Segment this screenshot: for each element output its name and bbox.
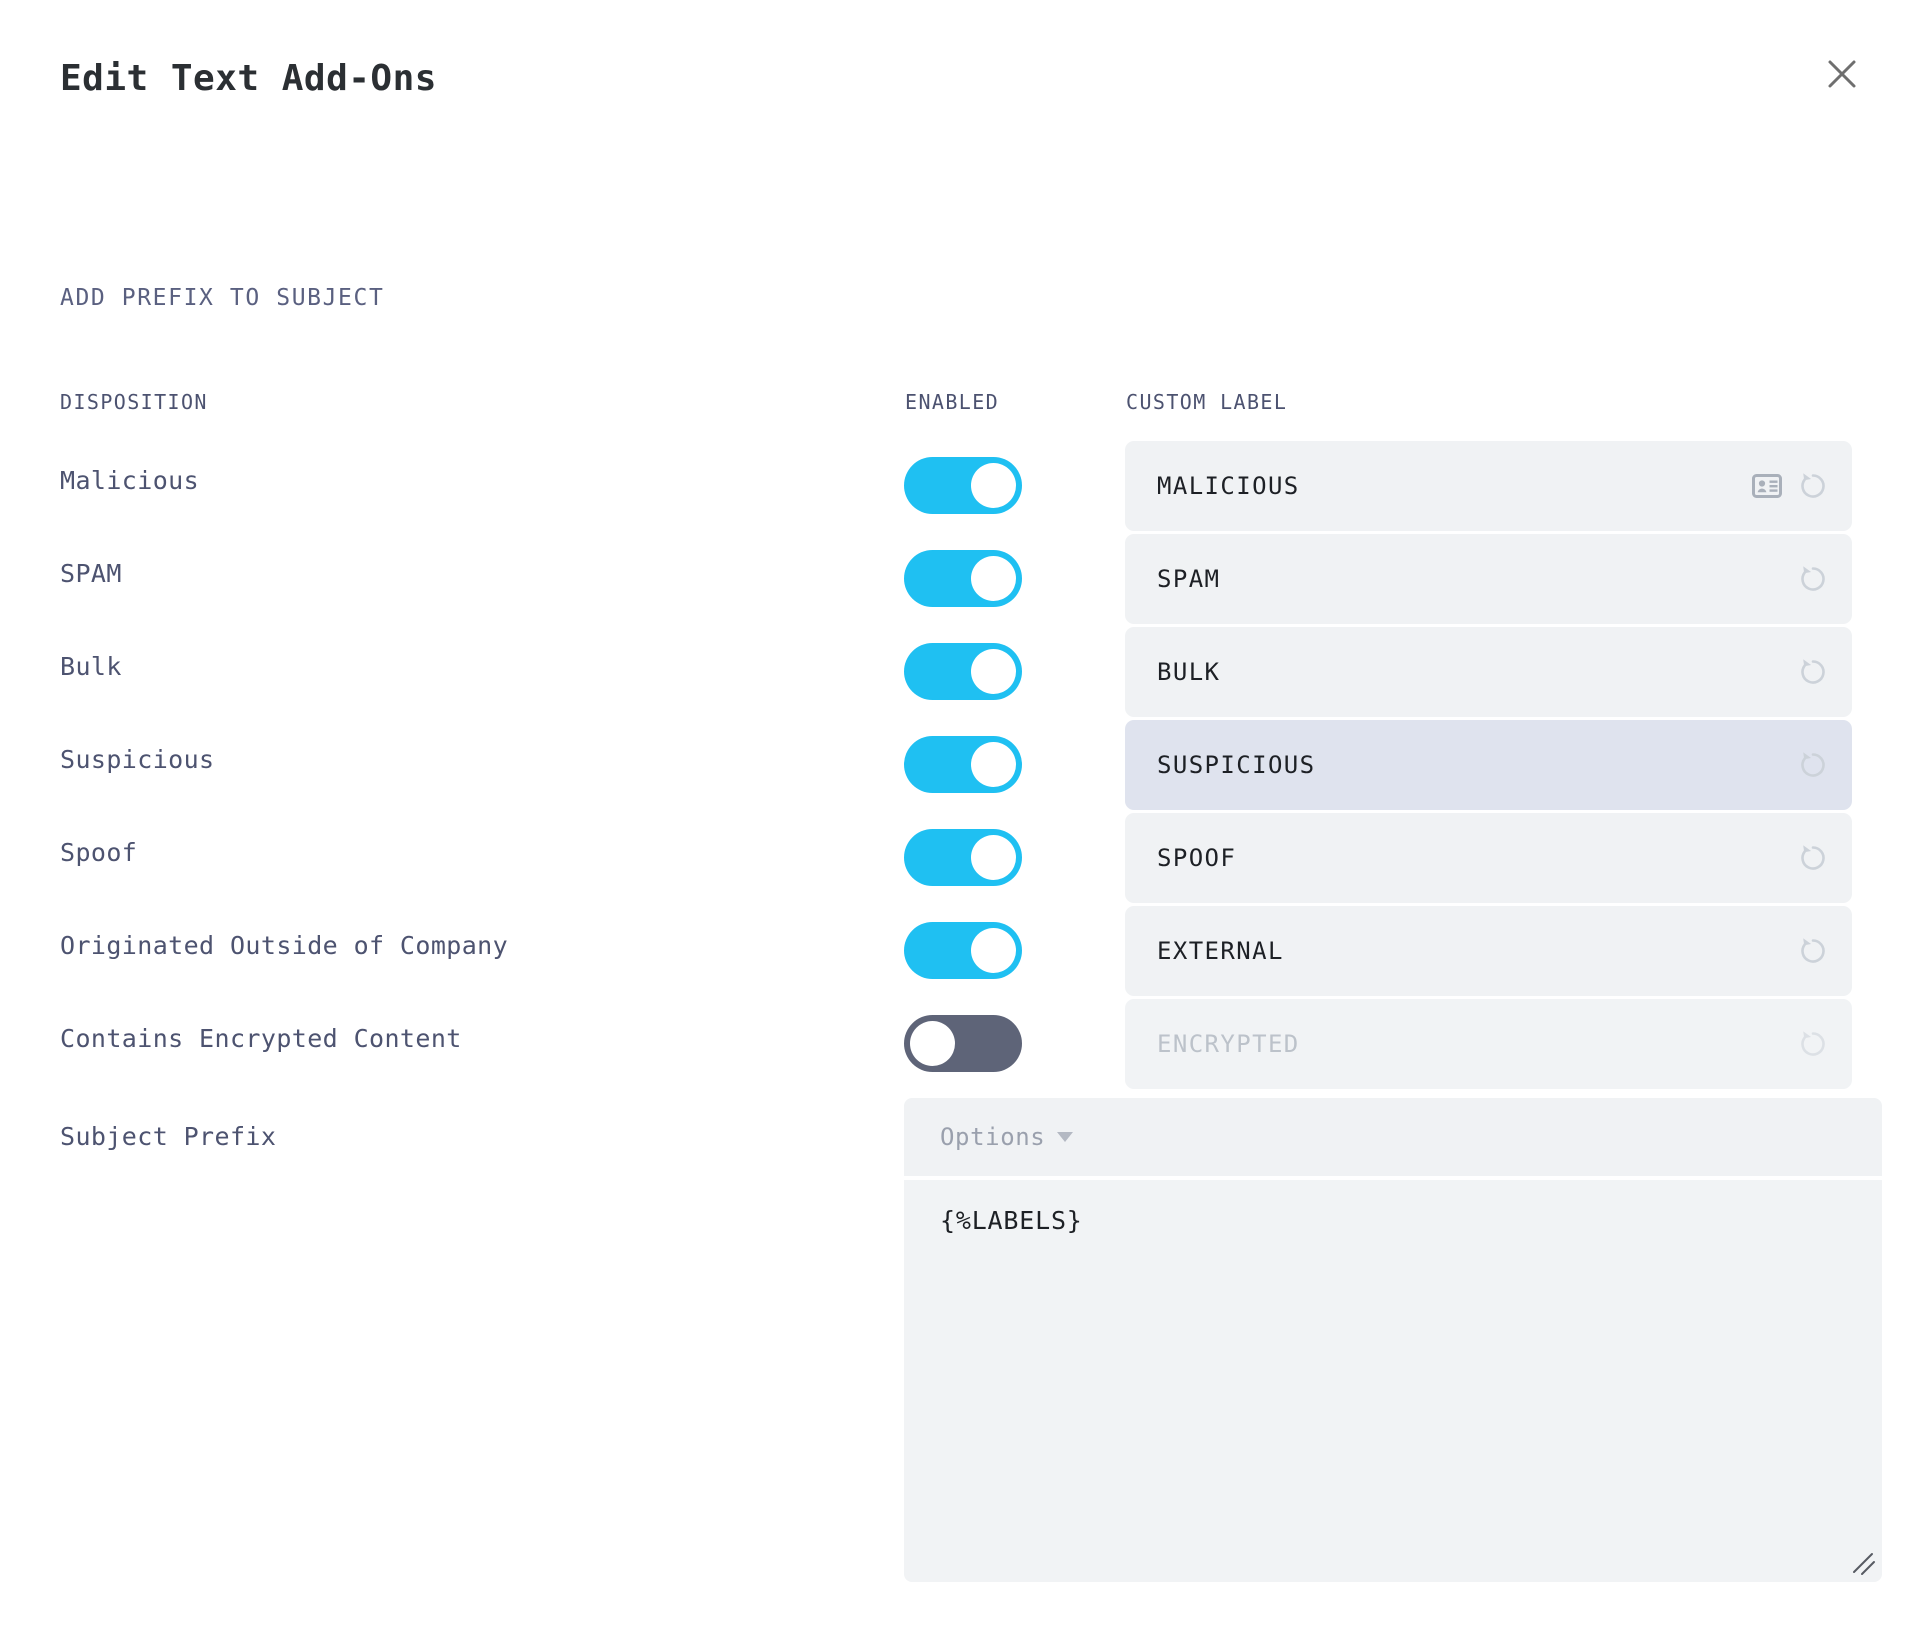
- column-header-custom-label: CUSTOM LABEL: [1126, 390, 1287, 414]
- custom-label-input[interactable]: SPOOF: [1125, 813, 1852, 903]
- enabled-toggle[interactable]: [904, 736, 1022, 793]
- disposition-label: Originated Outside of Company: [60, 931, 508, 960]
- toggle-knob: [971, 742, 1016, 787]
- reset-icon[interactable]: [1796, 841, 1830, 875]
- disposition-label: SPAM: [60, 559, 122, 588]
- table-row: Contains Encrypted ContentENCRYPTED: [0, 998, 1908, 1091]
- enabled-toggle[interactable]: [904, 829, 1022, 886]
- table-row: SPAMSPAM: [0, 533, 1908, 626]
- edit-text-addons-dialog: Edit Text Add-Ons ADD PREFIX TO SUBJECT …: [0, 0, 1908, 1650]
- subject-prefix-options-bar: Options: [904, 1098, 1882, 1176]
- subject-prefix-value: {%LABELS}: [940, 1206, 1083, 1235]
- reset-icon[interactable]: [1796, 469, 1830, 503]
- field-icons: [1796, 906, 1830, 996]
- dialog-header: Edit Text Add-Ons: [0, 0, 1908, 150]
- custom-label-input[interactable]: EXTERNAL: [1125, 906, 1852, 996]
- custom-label-input[interactable]: BULK: [1125, 627, 1852, 717]
- custom-label-input: ENCRYPTED: [1125, 999, 1852, 1089]
- toggle-knob: [971, 556, 1016, 601]
- section-label-add-prefix-to-subject: ADD PREFIX TO SUBJECT: [60, 285, 384, 311]
- subject-prefix-textarea[interactable]: {%LABELS}: [904, 1180, 1882, 1582]
- custom-label-value: SPOOF: [1157, 813, 1236, 903]
- custom-label-value: BULK: [1157, 627, 1220, 717]
- close-button[interactable]: [1812, 44, 1872, 104]
- field-icons: [1752, 441, 1830, 531]
- close-icon: [1825, 57, 1859, 91]
- enabled-toggle[interactable]: [904, 643, 1022, 700]
- reset-icon[interactable]: [1796, 1027, 1830, 1061]
- reset-icon[interactable]: [1796, 934, 1830, 968]
- options-dropdown-button[interactable]: Options: [940, 1098, 1073, 1176]
- enabled-toggle[interactable]: [904, 922, 1022, 979]
- field-icons: [1796, 720, 1830, 810]
- disposition-label: Suspicious: [60, 745, 215, 774]
- table-row: BulkBULK: [0, 626, 1908, 719]
- column-header-disposition: DISPOSITION: [60, 390, 208, 414]
- enabled-toggle[interactable]: [904, 550, 1022, 607]
- custom-label-value: SUSPICIOUS: [1157, 720, 1316, 810]
- reset-icon[interactable]: [1796, 655, 1830, 689]
- subject-prefix-label: Subject Prefix: [60, 1122, 276, 1151]
- field-icons: [1796, 813, 1830, 903]
- enabled-toggle[interactable]: [904, 457, 1022, 514]
- page-title: Edit Text Add-Ons: [60, 58, 437, 99]
- toggle-knob: [971, 463, 1016, 508]
- reset-icon[interactable]: [1796, 748, 1830, 782]
- toggle-knob: [971, 835, 1016, 880]
- custom-label-input[interactable]: SPAM: [1125, 534, 1852, 624]
- field-icons: [1796, 999, 1830, 1089]
- table-row: MaliciousMALICIOUS: [0, 440, 1908, 533]
- toggle-knob: [971, 928, 1016, 973]
- field-icons: [1796, 627, 1830, 717]
- toggle-knob: [971, 649, 1016, 694]
- field-icons: [1796, 534, 1830, 624]
- column-header-enabled: ENABLED: [905, 390, 999, 414]
- table-row: SuspiciousSUSPICIOUS: [0, 719, 1908, 812]
- custom-label-value: SPAM: [1157, 534, 1220, 624]
- custom-label-input[interactable]: MALICIOUS: [1125, 441, 1852, 531]
- disposition-label: Spoof: [60, 838, 137, 867]
- disposition-label: Contains Encrypted Content: [60, 1024, 462, 1053]
- caret-down-icon: [1057, 1132, 1073, 1142]
- custom-label-value: EXTERNAL: [1157, 906, 1284, 996]
- custom-label-value: MALICIOUS: [1157, 441, 1300, 531]
- custom-label-value: ENCRYPTED: [1157, 999, 1300, 1089]
- toggle-knob: [910, 1021, 955, 1066]
- table-row: Originated Outside of CompanyEXTERNAL: [0, 905, 1908, 998]
- custom-label-input[interactable]: SUSPICIOUS: [1125, 720, 1852, 810]
- reset-icon[interactable]: [1796, 562, 1830, 596]
- options-dropdown-label: Options: [940, 1123, 1045, 1151]
- table-row: SpoofSPOOF: [0, 812, 1908, 905]
- disposition-label: Bulk: [60, 652, 122, 681]
- resize-handle-icon[interactable]: [1850, 1550, 1876, 1576]
- address-card-icon[interactable]: [1752, 474, 1782, 498]
- disposition-label: Malicious: [60, 466, 199, 495]
- enabled-toggle[interactable]: [904, 1015, 1022, 1072]
